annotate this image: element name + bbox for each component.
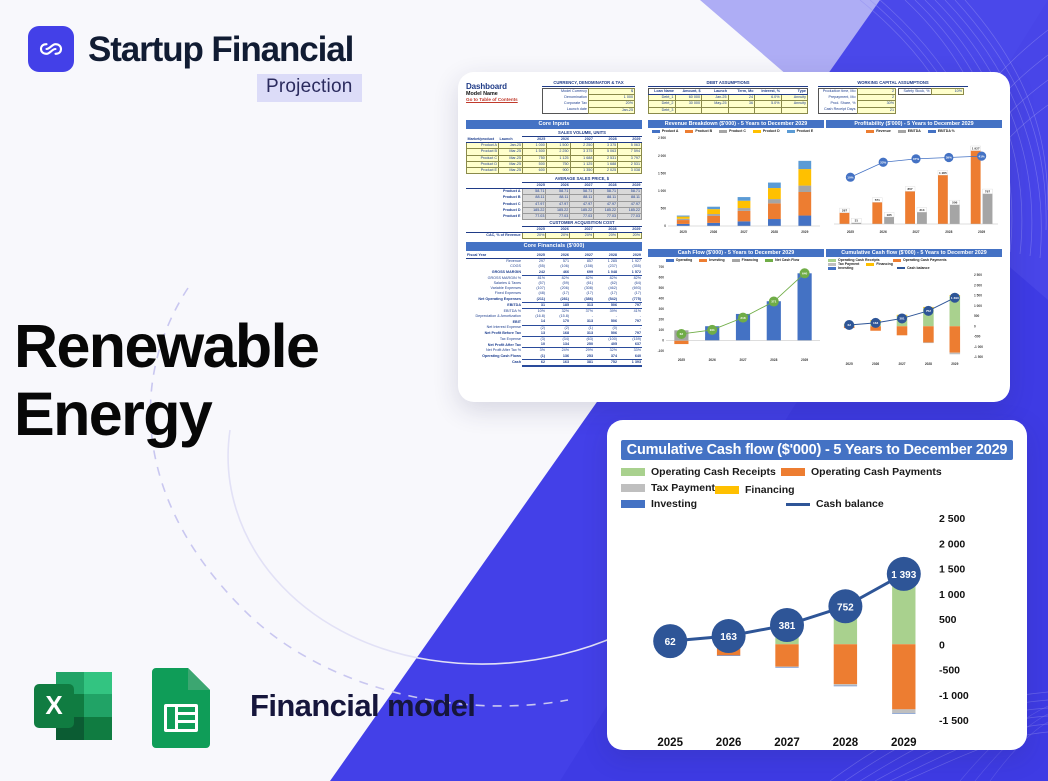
legend-item: Financing — [732, 258, 759, 262]
cumulative-cf-mini-legend: Operating Cash Receipts Operating Cash P… — [826, 257, 1002, 271]
cumulative-cf-mini-plot: 2 5002 0001 5001 0005000-500-1 000-1 500… — [826, 271, 1002, 371]
svg-text:-1 000: -1 000 — [939, 690, 969, 702]
headline-line-2: Energy — [14, 380, 318, 448]
svg-text:163: 163 — [873, 321, 878, 325]
legend-item: Revenue — [866, 129, 891, 133]
svg-text:2027: 2027 — [739, 358, 746, 362]
debt-table: Loan Name Amount, $ Launch Term, Mo Inte… — [648, 88, 808, 114]
financials-cell: 752 — [594, 359, 618, 366]
cash-flow-chart: Cash Flow ($'000) - 5 Years to December … — [648, 249, 824, 376]
financials-cell: 62 — [522, 359, 546, 366]
svg-text:2027: 2027 — [774, 737, 800, 749]
legend-item: Investing — [699, 258, 724, 262]
table-row: Cash Receipt Days21 — [819, 107, 896, 113]
wc-table: Production time, Mo2 Prepayment, Mo2 Pro… — [818, 88, 896, 114]
svg-text:2 000: 2 000 — [939, 538, 965, 550]
debt-assumptions-block: DEBT ASSUMPTIONS Loan Name Amount, $ Lau… — [648, 80, 808, 114]
legend-item-cash-balance: Cash balance — [786, 498, 884, 510]
svg-text:-1 500: -1 500 — [974, 355, 983, 359]
financials-row-label: Cash — [466, 359, 522, 366]
filetype-label: Financial model — [250, 688, 475, 724]
cash-flow-title: Cash Flow ($'000) - 5 Years to December … — [648, 249, 824, 257]
legend-item-operating-cash-receipts: Operating Cash Receipts — [621, 466, 781, 478]
brand-subtitle: Projection — [257, 74, 362, 102]
legend-item: Cash balance — [897, 266, 930, 270]
svg-text:-1 000: -1 000 — [974, 345, 983, 349]
profitability-chart: Profitability ($'000) - 5 Years to Decem… — [826, 120, 1002, 247]
svg-text:2028: 2028 — [771, 230, 778, 234]
svg-text:2028: 2028 — [770, 358, 777, 362]
sales-volume-table: Market/product Launch 2025 2026 2027 202… — [466, 137, 642, 174]
legend-item: Product A — [652, 129, 679, 133]
excel-file-icon: X — [28, 660, 120, 752]
svg-text:1 927: 1 927 — [972, 146, 980, 150]
cumulative-cf-title: Cumulative Cash flow ($'000) - 5 Years t… — [621, 440, 1013, 460]
svg-text:0: 0 — [974, 324, 976, 328]
svg-text:2 000: 2 000 — [974, 283, 982, 287]
svg-text:797: 797 — [985, 189, 990, 193]
svg-text:700: 700 — [659, 265, 665, 269]
core-financials-band: Core Financials ($'000) — [466, 242, 642, 251]
svg-text:752: 752 — [926, 309, 931, 313]
table-row: Product E Mar-25 600 900 1 350 2 025 3 0… — [467, 168, 642, 174]
svg-text:163: 163 — [720, 632, 737, 643]
svg-text:-100: -100 — [658, 349, 665, 353]
svg-text:400: 400 — [659, 297, 665, 301]
headline-line-1: Renewable — [14, 312, 318, 380]
cumulative-cf-mini-title: Cumulative Cash flow ($'000) - 5 Years t… — [826, 249, 1002, 257]
svg-text:62: 62 — [680, 332, 684, 336]
svg-text:62: 62 — [847, 323, 851, 327]
core-financials-body: Revenue2975718571 2851 927COGS(55)(106)(… — [466, 259, 642, 366]
currency-table: Model Currency$ Denomination1 000 Corpor… — [542, 88, 635, 114]
brand-title: Startup Financial — [88, 32, 353, 67]
svg-text:41%: 41% — [978, 154, 984, 158]
brand-subtitle-wrap: Projection — [257, 74, 362, 102]
legend-item: EBITDA % — [928, 129, 955, 133]
svg-text:2025: 2025 — [678, 358, 685, 362]
svg-text:500: 500 — [974, 314, 980, 318]
svg-text:2028: 2028 — [925, 362, 932, 366]
working-capital-block: WORKING CAPITAL ASSUMPTIONS Production t… — [818, 80, 968, 114]
svg-text:2025: 2025 — [847, 230, 854, 234]
svg-text:101: 101 — [710, 328, 715, 332]
cumulative-cf-legend: Operating Cash Receipts Operating Cash P… — [615, 460, 1019, 510]
legend-item: EBITDA — [898, 129, 921, 133]
svg-text:640: 640 — [802, 272, 807, 276]
svg-text:2029: 2029 — [801, 358, 808, 362]
profitability-plot: 297312025571185202685731320271 285506202… — [826, 134, 1002, 242]
svg-text:1 000: 1 000 — [974, 304, 982, 308]
profitability-title: Profitability ($'000) - 5 Years to Decem… — [826, 120, 1002, 128]
svg-text:1 500: 1 500 — [658, 171, 666, 175]
cac-table: 2025 2026 2027 2028 2029 CAC, % of Reven… — [466, 227, 642, 239]
svg-text:857: 857 — [907, 187, 912, 191]
legend-item: Product D — [753, 129, 780, 133]
svg-text:2029: 2029 — [978, 230, 985, 234]
core-financials-block: Fiscal Year 2025 2026 2027 2028 2029 Rev… — [466, 253, 642, 367]
legend-item-financing: Financing — [715, 482, 875, 498]
infinity-loop-icon — [28, 26, 74, 72]
legend-item: Product C — [719, 129, 746, 133]
table-row: Safety Stock, % 10% — [899, 89, 964, 95]
table-row: Launch dateJan-25 — [543, 107, 635, 113]
table-row: Cash621633817521 393 — [466, 359, 642, 366]
svg-text:2025: 2025 — [680, 230, 687, 234]
svg-text:1 000: 1 000 — [658, 189, 666, 193]
svg-text:2 500: 2 500 — [974, 273, 982, 277]
svg-text:500: 500 — [659, 286, 665, 290]
legend-item: Product B — [685, 129, 712, 133]
svg-text:571: 571 — [875, 198, 880, 202]
svg-text:10%: 10% — [847, 175, 853, 179]
financials-cell: 1 393 — [618, 359, 642, 366]
svg-text:31: 31 — [855, 219, 859, 223]
svg-text:500: 500 — [939, 614, 957, 626]
left-panel: Startup Financial Projection Renewable E… — [0, 0, 440, 781]
currency-assumptions-block: CURRENCY, DENOMINATOR & TAX Model Curren… — [542, 80, 635, 114]
sales-volume-header: SALES VOLUME, UNITS — [522, 130, 642, 137]
svg-text:2 500: 2 500 — [658, 136, 666, 140]
core-inputs-band: Core Inputs — [466, 120, 642, 129]
svg-text:1 393: 1 393 — [891, 570, 916, 581]
svg-text:-1 500: -1 500 — [939, 715, 969, 727]
svg-text:32%: 32% — [880, 160, 886, 164]
svg-text:-500: -500 — [974, 335, 981, 339]
svg-text:2025: 2025 — [846, 362, 853, 366]
revenue-breakdown-plot: 05001 0001 5002 0002 5002025202620272028… — [648, 134, 824, 242]
svg-text:2028: 2028 — [945, 230, 952, 234]
currency-block-header: CURRENCY, DENOMINATOR & TAX — [542, 80, 635, 87]
cash-flow-plot: -100010020030040050060070020252026202720… — [648, 263, 824, 371]
table-row: CAC, % of Revenue 20% 20% 20% 20% 20% — [466, 233, 642, 239]
financials-cell: 163 — [546, 359, 570, 366]
average-price-block: AVERAGE SALES PRICE, $ 2025 2026 2027 20… — [466, 176, 642, 220]
svg-text:2026: 2026 — [709, 358, 716, 362]
avg-price-table: 2025 2026 2027 2028 2029 Product A 58.71… — [466, 183, 642, 220]
svg-text:371: 371 — [771, 300, 776, 304]
svg-text:2026: 2026 — [872, 362, 879, 366]
brand-row: Startup Financial — [28, 26, 353, 72]
debt-block-header: DEBT ASSUMPTIONS — [648, 80, 808, 87]
table-row: Debt_3 — [649, 107, 808, 113]
svg-text:2 000: 2 000 — [658, 154, 666, 158]
cumulative-cash-flow-mini-chart: Cumulative Cash flow ($'000) - 5 Years t… — [826, 249, 1002, 376]
legend-item-operating-cash-payments: Operating Cash Payments — [781, 466, 946, 478]
svg-text:381: 381 — [899, 317, 904, 321]
svg-text:2026: 2026 — [710, 230, 717, 234]
svg-text:313: 313 — [919, 208, 924, 212]
cac-header: CUSTOMER ACQUISITION COST — [522, 220, 642, 227]
core-financials-table: Fiscal Year 2025 2026 2027 2028 2029 Rev… — [466, 253, 642, 367]
revenue-breakdown-chart: Revenue Breakdown ($'000) - 5 Years to D… — [648, 120, 824, 247]
avg-price-header: AVERAGE SALES PRICE, $ — [522, 176, 642, 183]
svg-text:2028: 2028 — [833, 737, 859, 749]
legend-item-investing: Investing — [621, 498, 786, 510]
legend-item: Product E — [787, 129, 814, 133]
svg-text:37%: 37% — [913, 157, 919, 161]
svg-text:381: 381 — [779, 621, 796, 632]
svg-text:0: 0 — [939, 639, 945, 651]
svg-text:2029: 2029 — [891, 737, 917, 749]
cac-block: CUSTOMER ACQUISITION COST 2025 2026 2027… — [466, 220, 642, 239]
legend-item: Investing — [828, 266, 890, 270]
svg-text:2025: 2025 — [657, 737, 683, 749]
page-title: Renewable Energy — [14, 312, 318, 449]
svg-text:1 000: 1 000 — [939, 589, 965, 601]
google-sheets-file-icon — [142, 660, 220, 752]
table-row: Product E 77.03 77.03 77.03 77.03 77.03 — [466, 214, 642, 220]
cumulative-cash-flow-card: Cumulative Cash flow ($'000) - 5 Years t… — [607, 420, 1027, 750]
wc-block-header: WORKING CAPITAL ASSUMPTIONS — [818, 80, 968, 87]
svg-text:X: X — [45, 690, 63, 720]
dashboard-screenshot-card: Dashboard Model Name Go to Table of Cont… — [458, 72, 1010, 402]
svg-text:300: 300 — [659, 307, 665, 311]
svg-text:-500: -500 — [939, 665, 960, 677]
filetype-row: X Financial model — [28, 660, 475, 752]
svg-text:200: 200 — [659, 318, 665, 322]
svg-text:506: 506 — [952, 201, 957, 205]
svg-text:1 500: 1 500 — [939, 564, 965, 576]
svg-text:2 500: 2 500 — [939, 513, 965, 525]
svg-text:2026: 2026 — [716, 737, 742, 749]
svg-text:1 285: 1 285 — [939, 171, 947, 175]
legend-item: Net Cash Flow — [765, 258, 799, 262]
cumulative-cf-plot: 2 5002 0001 5001 0005000-500-1 000-1 500… — [615, 510, 1019, 750]
svg-text:2026: 2026 — [880, 230, 887, 234]
svg-text:218: 218 — [740, 316, 745, 320]
svg-text:39%: 39% — [946, 156, 952, 160]
svg-text:2029: 2029 — [801, 230, 808, 234]
svg-text:600: 600 — [659, 276, 665, 280]
svg-text:185: 185 — [887, 213, 892, 217]
svg-text:297: 297 — [842, 208, 847, 212]
revenue-breakdown-title: Revenue Breakdown ($'000) - 5 Years to D… — [648, 120, 824, 128]
svg-text:0: 0 — [662, 339, 664, 343]
svg-text:62: 62 — [665, 637, 677, 648]
svg-text:100: 100 — [659, 328, 665, 332]
legend-item-tax-payment: Tax Payment — [621, 482, 715, 494]
wc-extra-table: Safety Stock, % 10% — [898, 88, 964, 95]
svg-text:0: 0 — [664, 224, 666, 228]
svg-text:2029: 2029 — [951, 362, 958, 366]
legend-item: Operating — [666, 258, 693, 262]
financials-cell: 381 — [570, 359, 594, 366]
svg-text:1 500: 1 500 — [974, 294, 982, 298]
svg-text:1 393: 1 393 — [951, 296, 959, 300]
sales-volume-block: SALES VOLUME, UNITS Market/product Launc… — [466, 130, 642, 174]
svg-text:2027: 2027 — [898, 362, 905, 366]
svg-text:2027: 2027 — [912, 230, 919, 234]
svg-text:2027: 2027 — [740, 230, 747, 234]
svg-text:500: 500 — [661, 207, 667, 211]
svg-text:752: 752 — [837, 602, 854, 613]
